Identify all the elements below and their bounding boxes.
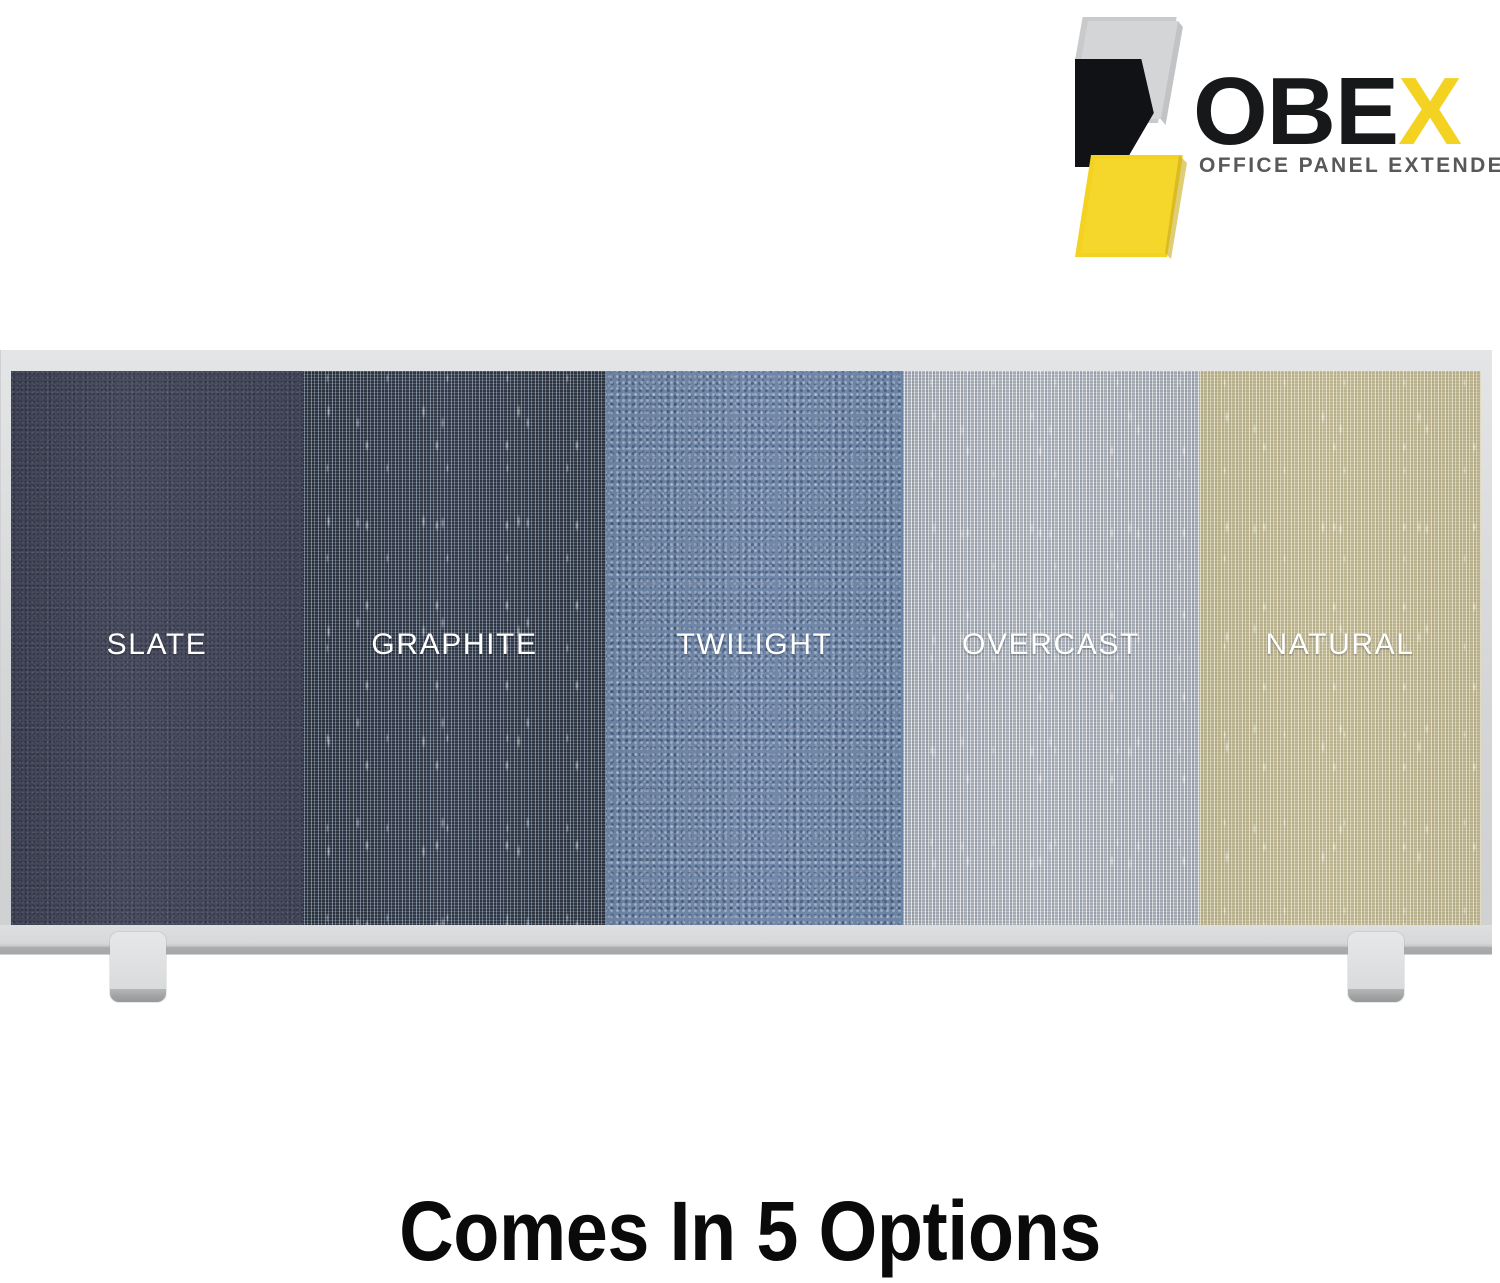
- obex-wordmark-dark: OBE: [1193, 58, 1398, 165]
- options-caption: Comes In 5 Options: [75, 1183, 1425, 1279]
- obex-wordmark-accent: X: [1398, 58, 1461, 165]
- fabric-swatch-strip: SLATE GRAPHITE TWILIGHT OVERCAST NATURAL: [11, 371, 1481, 925]
- obex-chevron-mark-icon: [1075, 15, 1190, 260]
- mounting-bracket-right: [1348, 932, 1404, 1002]
- graphite-texture: [303, 371, 606, 925]
- fabric-swatch-graphite[interactable]: GRAPHITE: [303, 371, 606, 925]
- obex-wordmark: OBEX OFFICE PANEL EXTENDERS: [1193, 62, 1483, 172]
- fabric-swatch-natural[interactable]: NATURAL: [1199, 371, 1481, 925]
- brand-tagline: OFFICE PANEL EXTENDERS: [1199, 154, 1500, 178]
- privacy-panel-product-image: SLATE GRAPHITE TWILIGHT OVERCAST NATURAL: [0, 350, 1492, 1010]
- brand-logo: OBEX OFFICE PANEL EXTENDERS: [1075, 10, 1475, 260]
- fabric-swatch-overcast[interactable]: OVERCAST: [903, 371, 1199, 925]
- mounting-bracket-left: [110, 932, 166, 1002]
- fabric-swatch-slate[interactable]: SLATE: [11, 371, 303, 925]
- fabric-swatch-twilight[interactable]: TWILIGHT: [606, 371, 903, 925]
- natural-texture: [1199, 371, 1481, 925]
- panel-bottom-rail: [0, 925, 1492, 954]
- panel-aluminum-frame: SLATE GRAPHITE TWILIGHT OVERCAST NATURAL: [0, 350, 1492, 955]
- overcast-texture: [903, 371, 1199, 925]
- obex-wordmark-text: OBEX: [1193, 62, 1461, 162]
- twilight-texture: [606, 371, 903, 925]
- slate-texture: [11, 371, 303, 925]
